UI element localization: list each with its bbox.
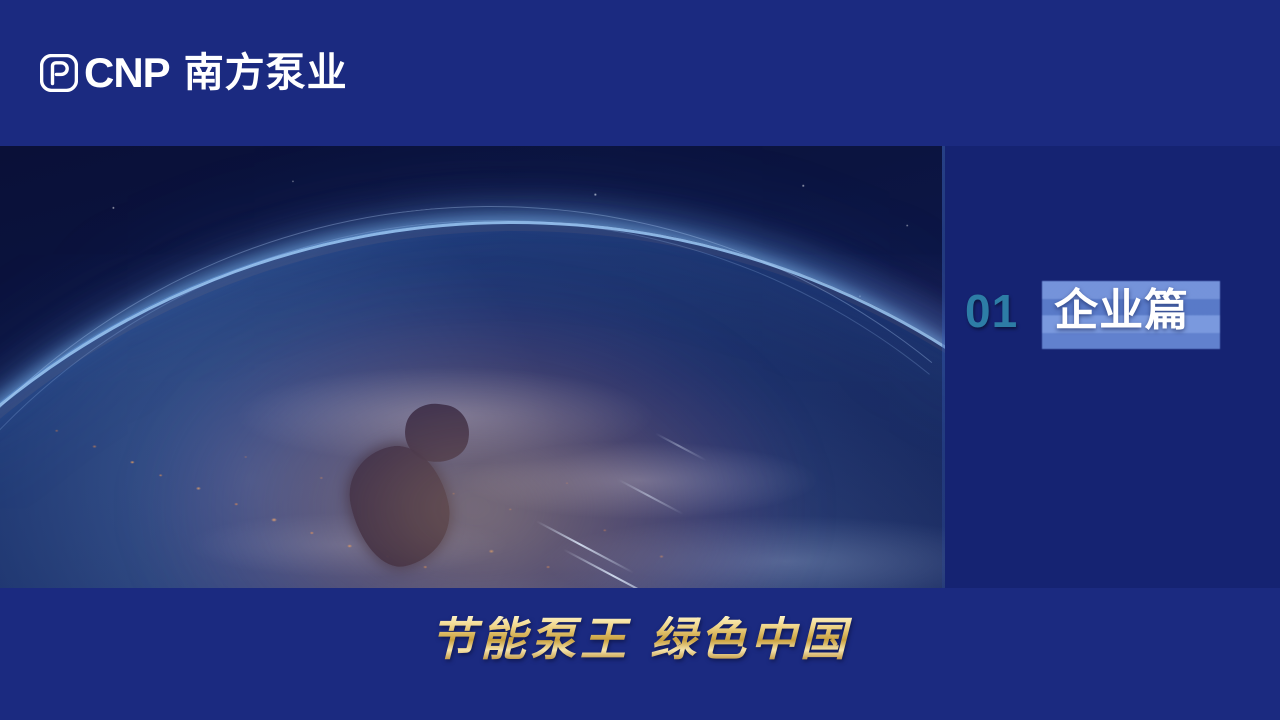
section-panel: 01 企业篇: [945, 146, 1280, 588]
company-slogan: 节能泵王 绿色中国: [0, 616, 1280, 662]
section-number: 01: [965, 288, 1018, 334]
section-title: 企业篇: [1054, 285, 1189, 336]
slide-footer: 节能泵王 绿色中国: [0, 588, 1280, 720]
earth-photo-image: [0, 146, 945, 588]
cnp-logo-mark-icon: [40, 54, 78, 92]
presentation-slide: CNP 南方泵业: [0, 0, 1280, 720]
section-heading: 01 企业篇: [945, 273, 1280, 349]
earth-photo-panel: [0, 146, 945, 588]
brand-logo[interactable]: CNP 南方泵业: [40, 48, 348, 98]
logo-chinese-text: 南方泵业: [184, 53, 348, 93]
slide-header: CNP 南方泵业: [0, 0, 1280, 146]
section-title-group: 企业篇: [1054, 289, 1189, 333]
logo-latin-text: CNP: [84, 52, 170, 94]
